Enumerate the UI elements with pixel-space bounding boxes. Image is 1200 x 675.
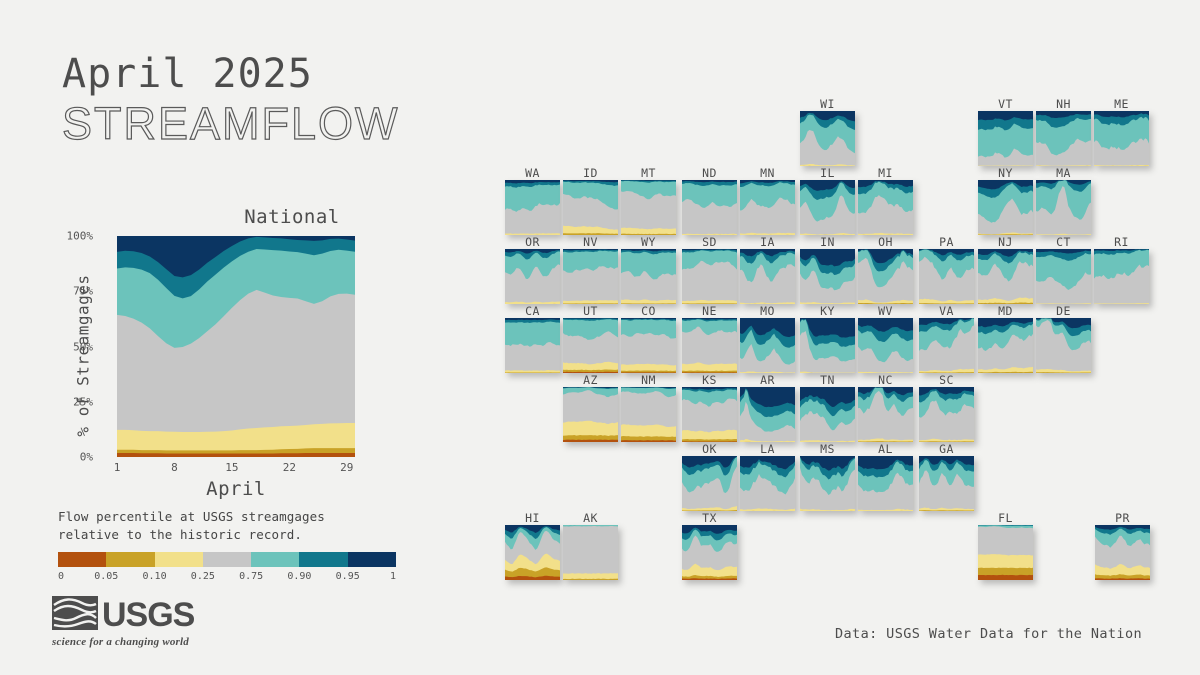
- state-label-il: IL: [800, 166, 855, 180]
- state-label-mt: MT: [621, 166, 676, 180]
- state-tile-mn[interactable]: MN: [740, 166, 795, 235]
- state-chart-me: [1094, 111, 1149, 166]
- state-label-wi: WI: [800, 97, 855, 111]
- state-tile-sd[interactable]: SD: [682, 235, 737, 304]
- state-label-fl: FL: [978, 511, 1033, 525]
- state-label-ak: AK: [563, 511, 618, 525]
- state-chart-md: [978, 318, 1033, 373]
- state-label-de: DE: [1036, 304, 1091, 318]
- state-chart-hi: [505, 525, 560, 580]
- state-chart-ak: [563, 525, 618, 580]
- state-tile-ct[interactable]: CT: [1036, 235, 1091, 304]
- state-tile-ut[interactable]: UT: [563, 304, 618, 373]
- state-label-ca: CA: [505, 304, 560, 318]
- state-chart-wv: [858, 318, 913, 373]
- state-chart-pa: [919, 249, 974, 304]
- state-tile-nh[interactable]: NH: [1036, 97, 1091, 166]
- state-tile-nm[interactable]: NM: [621, 373, 676, 442]
- state-tile-wi[interactable]: WI: [800, 97, 855, 166]
- state-tile-hi[interactable]: HI: [505, 511, 560, 580]
- state-label-ia: IA: [740, 235, 795, 249]
- state-label-nj: NJ: [978, 235, 1033, 249]
- state-chart-va: [919, 318, 974, 373]
- state-chart-ne: [682, 318, 737, 373]
- state-label-or: OR: [505, 235, 560, 249]
- state-tile-in[interactable]: IN: [800, 235, 855, 304]
- state-chart-az: [563, 387, 618, 442]
- state-tile-la[interactable]: LA: [740, 442, 795, 511]
- state-tile-ks[interactable]: KS: [682, 373, 737, 442]
- state-tile-me[interactable]: ME: [1094, 97, 1149, 166]
- state-label-md: MD: [978, 304, 1033, 318]
- state-chart-ar: [740, 387, 795, 442]
- state-label-ar: AR: [740, 373, 795, 387]
- state-tile-wv[interactable]: WV: [858, 304, 913, 373]
- state-tile-az[interactable]: AZ: [563, 373, 618, 442]
- state-label-tn: TN: [800, 373, 855, 387]
- state-chart-fl: [978, 525, 1033, 580]
- state-chart-il: [800, 180, 855, 235]
- state-label-ne: NE: [682, 304, 737, 318]
- state-chart-ia: [740, 249, 795, 304]
- state-label-mn: MN: [740, 166, 795, 180]
- state-label-ms: MS: [800, 442, 855, 456]
- state-label-ga: GA: [919, 442, 974, 456]
- state-chart-sd: [682, 249, 737, 304]
- state-chart-id: [563, 180, 618, 235]
- state-tile-nv[interactable]: NV: [563, 235, 618, 304]
- state-tile-va[interactable]: VA: [919, 304, 974, 373]
- state-label-id: ID: [563, 166, 618, 180]
- state-chart-nm: [621, 387, 676, 442]
- state-tile-vt[interactable]: VT: [978, 97, 1033, 166]
- state-tile-mi[interactable]: MI: [858, 166, 913, 235]
- state-tile-wy[interactable]: WY: [621, 235, 676, 304]
- state-label-wv: WV: [858, 304, 913, 318]
- state-label-nc: NC: [858, 373, 913, 387]
- state-chart-nc: [858, 387, 913, 442]
- state-tile-ky[interactable]: KY: [800, 304, 855, 373]
- state-chart-ca: [505, 318, 560, 373]
- state-label-sc: SC: [919, 373, 974, 387]
- state-tile-tx[interactable]: TX: [682, 511, 737, 580]
- state-label-wy: WY: [621, 235, 676, 249]
- state-tile-ok[interactable]: OK: [682, 442, 737, 511]
- state-label-oh: OH: [858, 235, 913, 249]
- state-tile-de[interactable]: DE: [1036, 304, 1091, 373]
- state-chart-ms: [800, 456, 855, 511]
- state-chart-wa: [505, 180, 560, 235]
- state-label-ks: KS: [682, 373, 737, 387]
- state-chart-de: [1036, 318, 1091, 373]
- state-tile-nd[interactable]: ND: [682, 166, 737, 235]
- state-tile-md[interactable]: MD: [978, 304, 1033, 373]
- state-chart-ut: [563, 318, 618, 373]
- state-tile-ma[interactable]: MA: [1036, 166, 1091, 235]
- state-label-ok: OK: [682, 442, 737, 456]
- state-label-in: IN: [800, 235, 855, 249]
- state-label-la: LA: [740, 442, 795, 456]
- state-chart-ks: [682, 387, 737, 442]
- state-tile-fl[interactable]: FL: [978, 511, 1033, 580]
- state-chart-ok: [682, 456, 737, 511]
- state-label-ma: MA: [1036, 166, 1091, 180]
- state-chart-mi: [858, 180, 913, 235]
- state-label-al: AL: [858, 442, 913, 456]
- state-label-hi: HI: [505, 511, 560, 525]
- state-tile-or[interactable]: OR: [505, 235, 560, 304]
- state-chart-nv: [563, 249, 618, 304]
- state-chart-vt: [978, 111, 1033, 166]
- state-tile-ga[interactable]: GA: [919, 442, 974, 511]
- state-tile-ri[interactable]: RI: [1094, 235, 1149, 304]
- state-label-pr: PR: [1095, 511, 1150, 525]
- state-chart-in: [800, 249, 855, 304]
- state-tile-il[interactable]: IL: [800, 166, 855, 235]
- state-label-pa: PA: [919, 235, 974, 249]
- state-label-vt: VT: [978, 97, 1033, 111]
- state-label-ct: CT: [1036, 235, 1091, 249]
- state-chart-nj: [978, 249, 1033, 304]
- state-chart-co: [621, 318, 676, 373]
- state-label-az: AZ: [563, 373, 618, 387]
- state-chart-oh: [858, 249, 913, 304]
- state-chart-mo: [740, 318, 795, 373]
- state-tile-mt[interactable]: MT: [621, 166, 676, 235]
- state-tile-al[interactable]: AL: [858, 442, 913, 511]
- state-tile-ne[interactable]: NE: [682, 304, 737, 373]
- state-chart-ga: [919, 456, 974, 511]
- state-label-mo: MO: [740, 304, 795, 318]
- state-tile-sc[interactable]: SC: [919, 373, 974, 442]
- state-tile-ar[interactable]: AR: [740, 373, 795, 442]
- state-chart-pr: [1095, 525, 1150, 580]
- state-chart-tx: [682, 525, 737, 580]
- state-label-nd: ND: [682, 166, 737, 180]
- state-label-co: CO: [621, 304, 676, 318]
- state-chart-ky: [800, 318, 855, 373]
- state-chart-mn: [740, 180, 795, 235]
- state-chart-nh: [1036, 111, 1091, 166]
- state-chart-mt: [621, 180, 676, 235]
- state-label-nh: NH: [1036, 97, 1091, 111]
- state-tile-oh[interactable]: OH: [858, 235, 913, 304]
- state-tile-ny[interactable]: NY: [978, 166, 1033, 235]
- state-label-me: ME: [1094, 97, 1149, 111]
- state-chart-ma: [1036, 180, 1091, 235]
- state-chart-tn: [800, 387, 855, 442]
- state-tile-wa[interactable]: WA: [505, 166, 560, 235]
- state-label-va: VA: [919, 304, 974, 318]
- state-tile-id[interactable]: ID: [563, 166, 618, 235]
- state-tile-ms[interactable]: MS: [800, 442, 855, 511]
- state-tile-ak[interactable]: AK: [563, 511, 618, 580]
- state-tile-pa[interactable]: PA: [919, 235, 974, 304]
- state-label-ky: KY: [800, 304, 855, 318]
- state-tile-tn[interactable]: TN: [800, 373, 855, 442]
- state-tile-nj[interactable]: NJ: [978, 235, 1033, 304]
- state-label-tx: TX: [682, 511, 737, 525]
- state-tile-ca[interactable]: CA: [505, 304, 560, 373]
- state-tile-nc[interactable]: NC: [858, 373, 913, 442]
- state-label-mi: MI: [858, 166, 913, 180]
- state-tile-pr[interactable]: PR: [1095, 511, 1150, 580]
- state-grid: WIVTNHMEWAIDMTNDMNILMINYMAORNVWYSDIAINOH…: [0, 0, 1200, 675]
- state-label-nm: NM: [621, 373, 676, 387]
- state-chart-nd: [682, 180, 737, 235]
- footer-attribution: Data: USGS Water Data for the Nation: [835, 626, 1142, 642]
- state-chart-la: [740, 456, 795, 511]
- state-chart-sc: [919, 387, 974, 442]
- state-tile-co[interactable]: CO: [621, 304, 676, 373]
- state-label-sd: SD: [682, 235, 737, 249]
- state-label-ny: NY: [978, 166, 1033, 180]
- state-chart-wy: [621, 249, 676, 304]
- state-chart-or: [505, 249, 560, 304]
- state-chart-ct: [1036, 249, 1091, 304]
- state-chart-wi: [800, 111, 855, 166]
- state-chart-ny: [978, 180, 1033, 235]
- state-label-nv: NV: [563, 235, 618, 249]
- state-label-wa: WA: [505, 166, 560, 180]
- state-chart-ri: [1094, 249, 1149, 304]
- state-tile-mo[interactable]: MO: [740, 304, 795, 373]
- state-chart-al: [858, 456, 913, 511]
- state-tile-ia[interactable]: IA: [740, 235, 795, 304]
- state-label-ut: UT: [563, 304, 618, 318]
- state-label-ri: RI: [1094, 235, 1149, 249]
